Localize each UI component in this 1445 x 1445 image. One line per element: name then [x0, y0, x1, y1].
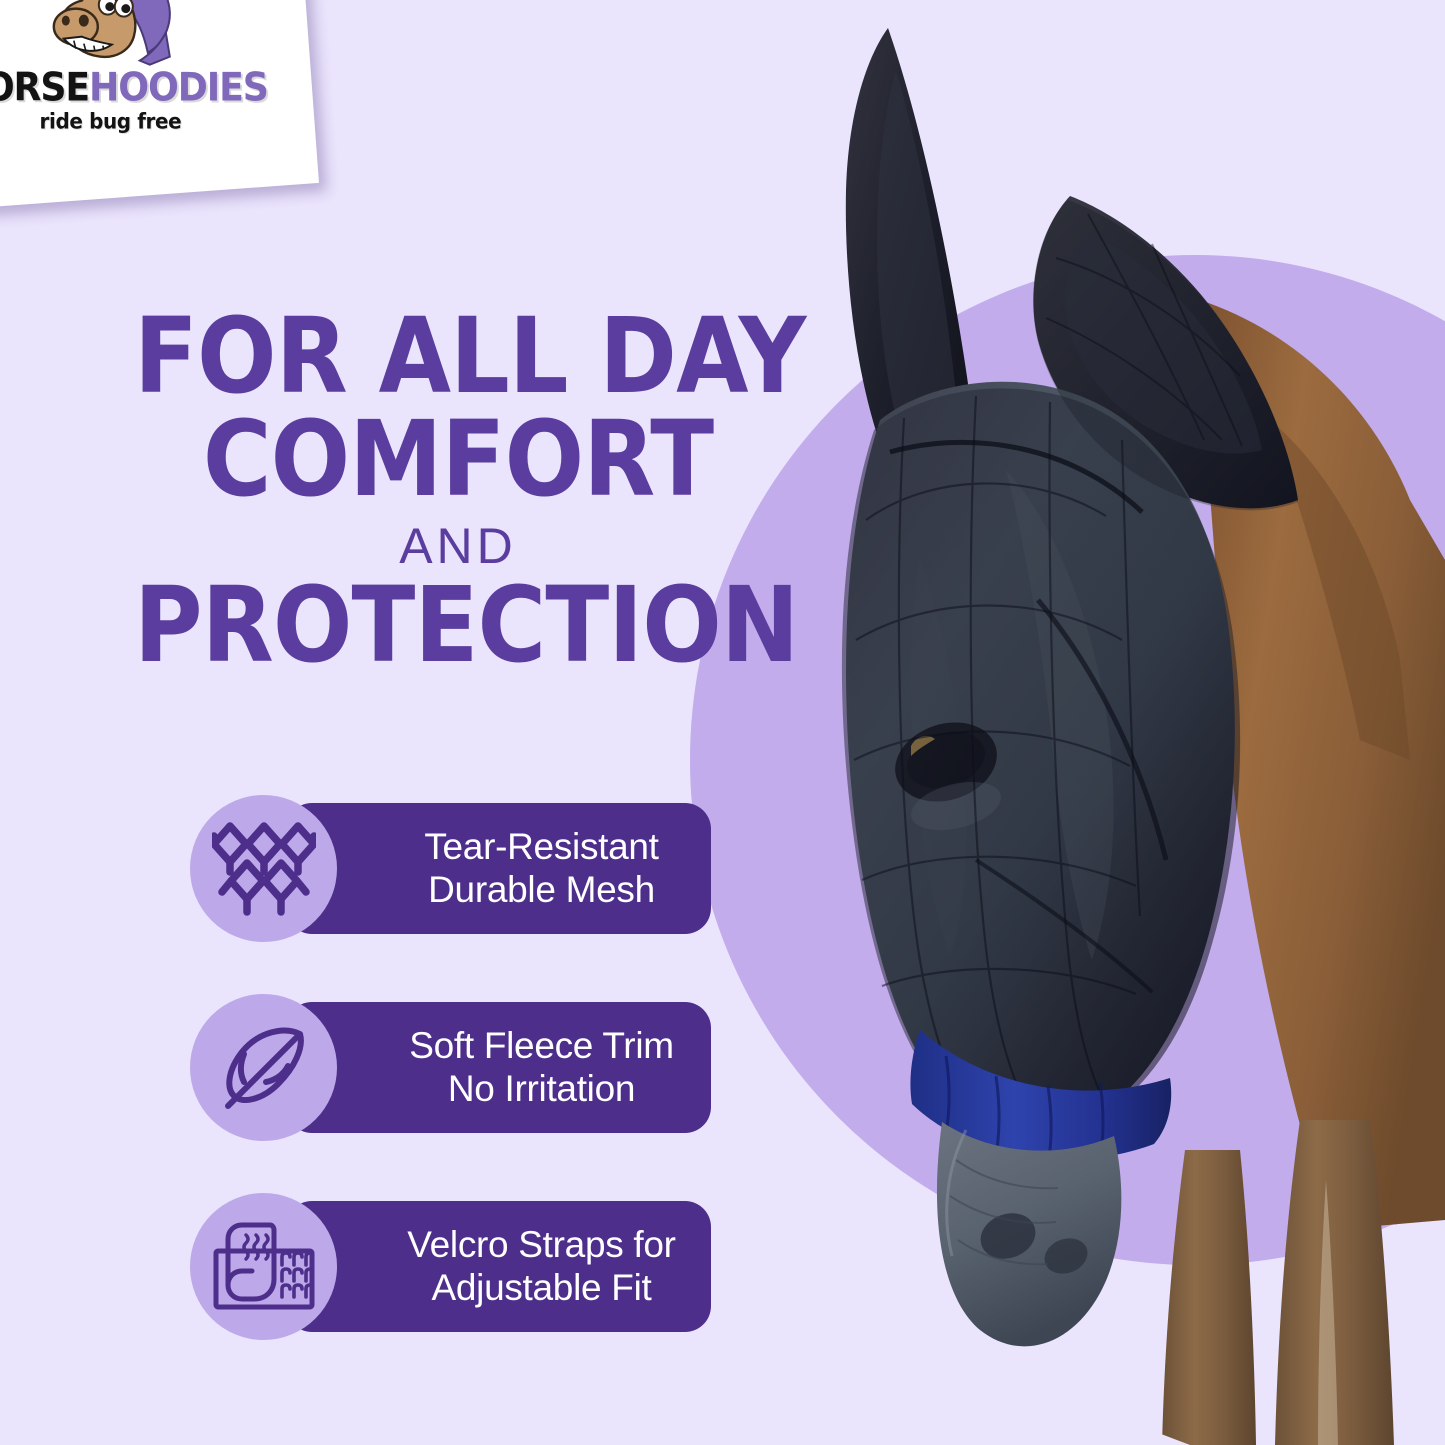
feature-pill-velcro[interactable]: Velcro Straps for Adjustable Fit: [286, 1201, 711, 1332]
brand-word-hoodies: HOODIES: [89, 66, 268, 111]
feather-icon: [190, 994, 337, 1141]
feature-label-mesh: Tear-Resistant Durable Mesh: [424, 826, 658, 912]
feature-label-fleece: Soft Fleece Trim No Irritation: [409, 1025, 674, 1111]
headline-line-4: PROTECTION: [134, 577, 782, 674]
headline-line-2: COMFORT: [134, 411, 782, 508]
headline-line-1: FOR ALL DAY: [134, 308, 782, 405]
donkey-photo: [770, 0, 1445, 1445]
mesh-lattice-icon: [190, 795, 337, 942]
product-feature-graphic: HORSEHOODIES ride bug free FOR ALL DAY C…: [0, 0, 1445, 1445]
headline-block: FOR ALL DAY COMFORT AND PROTECTION: [98, 308, 818, 674]
brand-word-horse: HORSE: [0, 66, 89, 111]
brand-logo-banner: HORSEHOODIES ride bug free: [0, 0, 319, 208]
brand-wordmark: HORSEHOODIES: [0, 69, 267, 108]
brand-tagline: ride bug free: [40, 110, 182, 134]
feature-pill-mesh[interactable]: Tear-Resistant Durable Mesh: [286, 803, 711, 934]
feature-pill-fleece[interactable]: Soft Fleece Trim No Irritation: [286, 1002, 711, 1133]
feature-label-velcro: Velcro Straps for Adjustable Fit: [407, 1224, 675, 1310]
velcro-strap-icon: [190, 1193, 337, 1340]
